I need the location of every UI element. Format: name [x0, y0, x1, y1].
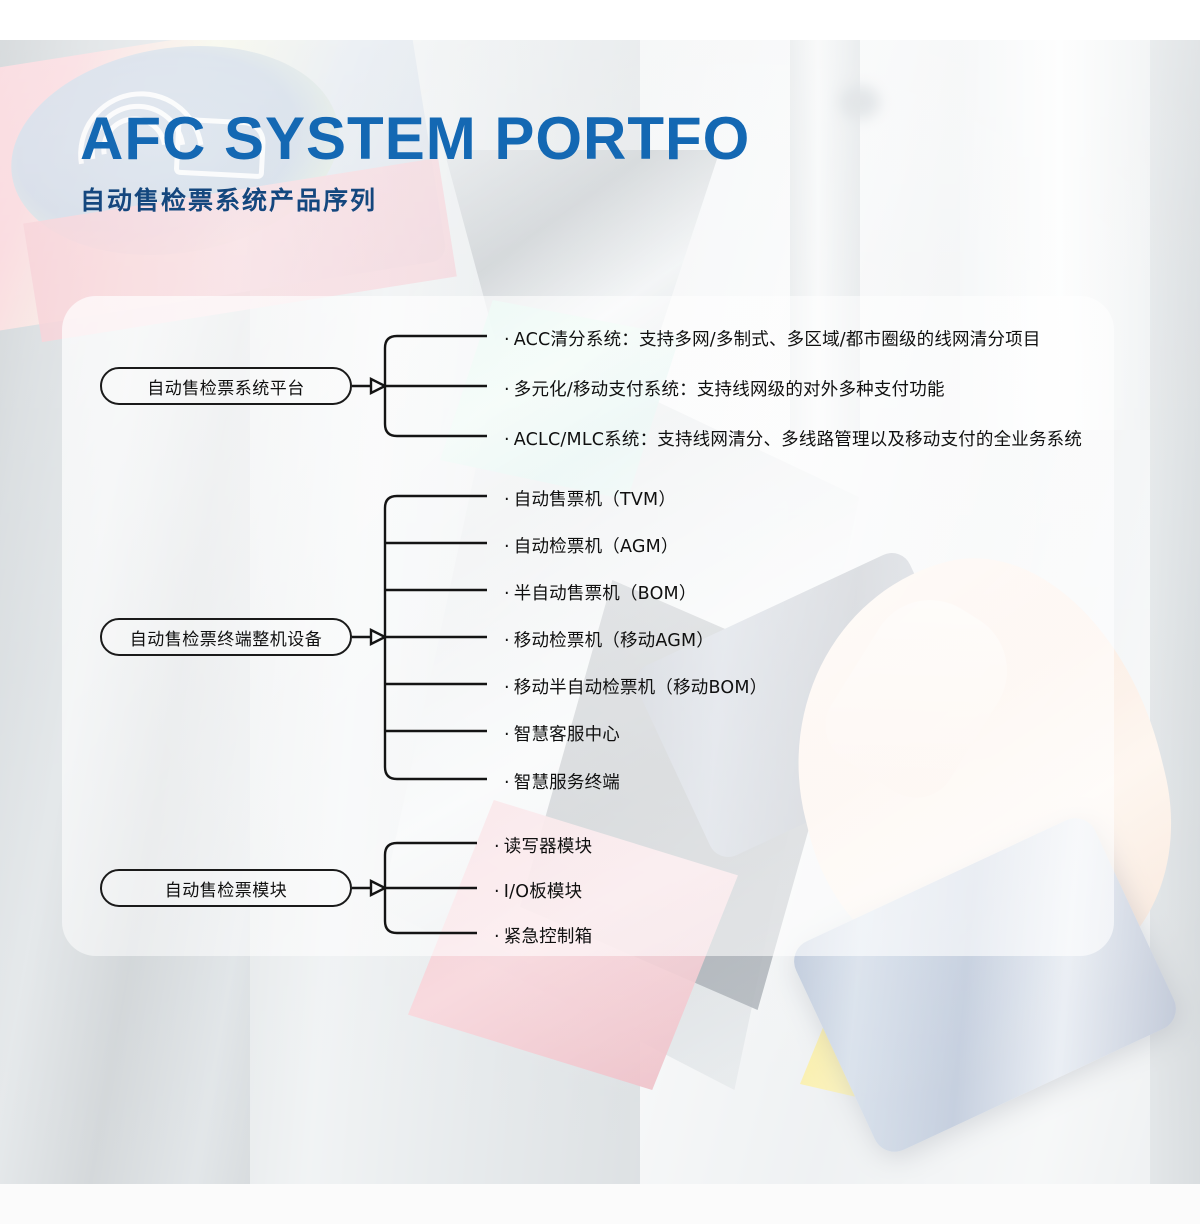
- page-subtitle: 自动售检票系统产品序列: [80, 181, 750, 217]
- list-item[interactable]: ·I/O板模块: [494, 878, 582, 903]
- list-item[interactable]: ·智慧服务终端: [504, 769, 620, 794]
- list-item[interactable]: ·读写器模块: [494, 833, 592, 858]
- list-item-label: 移动半自动检票机（移动BOM）: [514, 678, 768, 698]
- group-label-modules[interactable]: 自动售检票模块: [100, 869, 352, 907]
- list-item[interactable]: ·ACLC/MLC系统：支持线网清分、多线路管理以及移动支付的全业务系统: [504, 426, 1082, 451]
- bullet-icon: ·: [504, 678, 510, 698]
- page-title: AFC SYSTEM PORTFO: [80, 108, 750, 169]
- list-item[interactable]: ·自动售票机（TVM）: [504, 486, 676, 511]
- page-header: AFC SYSTEM PORTFO 自动售检票系统产品序列: [80, 108, 750, 217]
- list-item[interactable]: ·半自动售票机（BOM）: [504, 580, 697, 605]
- bullet-icon: ·: [494, 837, 500, 857]
- connector-g1-row3: [385, 398, 487, 436]
- bullet-icon: ·: [504, 773, 510, 793]
- connector-g1-arrow: [371, 379, 385, 393]
- list-item[interactable]: ·ACC清分系统：支持多网/多制式、多区域/都市圈级的线网清分项目: [504, 326, 1041, 351]
- list-item[interactable]: ·智慧客服中心: [504, 721, 620, 746]
- list-item-label: ACLC/MLC系统：支持线网清分、多线路管理以及移动支付的全业务系统: [514, 430, 1082, 450]
- bullet-icon: ·: [504, 430, 510, 450]
- list-item[interactable]: ·多元化/移动支付系统：支持线网级的对外多种支付功能: [504, 376, 945, 401]
- list-item[interactable]: ·移动半自动检票机（移动BOM）: [504, 674, 767, 699]
- connector-g3-row3: [385, 900, 477, 933]
- list-item-label: 读写器模块: [504, 837, 593, 857]
- bullet-icon: ·: [504, 584, 510, 604]
- list-item[interactable]: ·移动检票机（移动AGM）: [504, 627, 714, 652]
- list-item-label: 自动售票机（TVM）: [514, 490, 676, 510]
- bullet-icon: ·: [504, 537, 510, 557]
- connector-g2-arrow: [371, 630, 385, 644]
- list-item-label: 移动检票机（移动AGM）: [514, 631, 714, 651]
- list-item-label: 自动检票机（AGM）: [514, 537, 679, 557]
- group-label-text: 自动售检票系统平台: [147, 374, 305, 399]
- list-item[interactable]: ·自动检票机（AGM）: [504, 533, 679, 558]
- connector-g3-row1: [385, 843, 477, 876]
- list-item-label: 紧急控制箱: [504, 927, 593, 947]
- connector-g1-row1: [385, 336, 487, 374]
- bullet-icon: ·: [504, 330, 510, 350]
- list-item-label: ACC清分系统：支持多网/多制式、多区域/都市圈级的线网清分项目: [514, 330, 1041, 350]
- list-item[interactable]: ·紧急控制箱: [494, 923, 592, 948]
- list-item-label: 智慧客服中心: [514, 725, 620, 745]
- bullet-icon: ·: [494, 927, 500, 947]
- bullet-icon: ·: [494, 882, 500, 902]
- group-label-text: 自动售检票终端整机设备: [130, 625, 323, 650]
- bullet-icon: ·: [504, 380, 510, 400]
- connector-g2-row7: [385, 649, 487, 779]
- list-item-label: I/O板模块: [504, 882, 583, 902]
- connector-g3-arrow: [371, 881, 385, 895]
- group-label-text: 自动售检票模块: [165, 876, 288, 901]
- group-label-terminal-equipment[interactable]: 自动售检票终端整机设备: [100, 618, 352, 656]
- list-item-label: 半自动售票机（BOM）: [514, 584, 697, 604]
- list-item-label: 智慧服务终端: [514, 773, 620, 793]
- list-item-label: 多元化/移动支付系统：支持线网级的对外多种支付功能: [514, 380, 945, 400]
- group-label-system-platform[interactable]: 自动售检票系统平台: [100, 367, 352, 405]
- bullet-icon: ·: [504, 490, 510, 510]
- bullet-icon: ·: [504, 725, 510, 745]
- bullet-icon: ·: [504, 631, 510, 651]
- connector-g2-row1: [385, 496, 487, 625]
